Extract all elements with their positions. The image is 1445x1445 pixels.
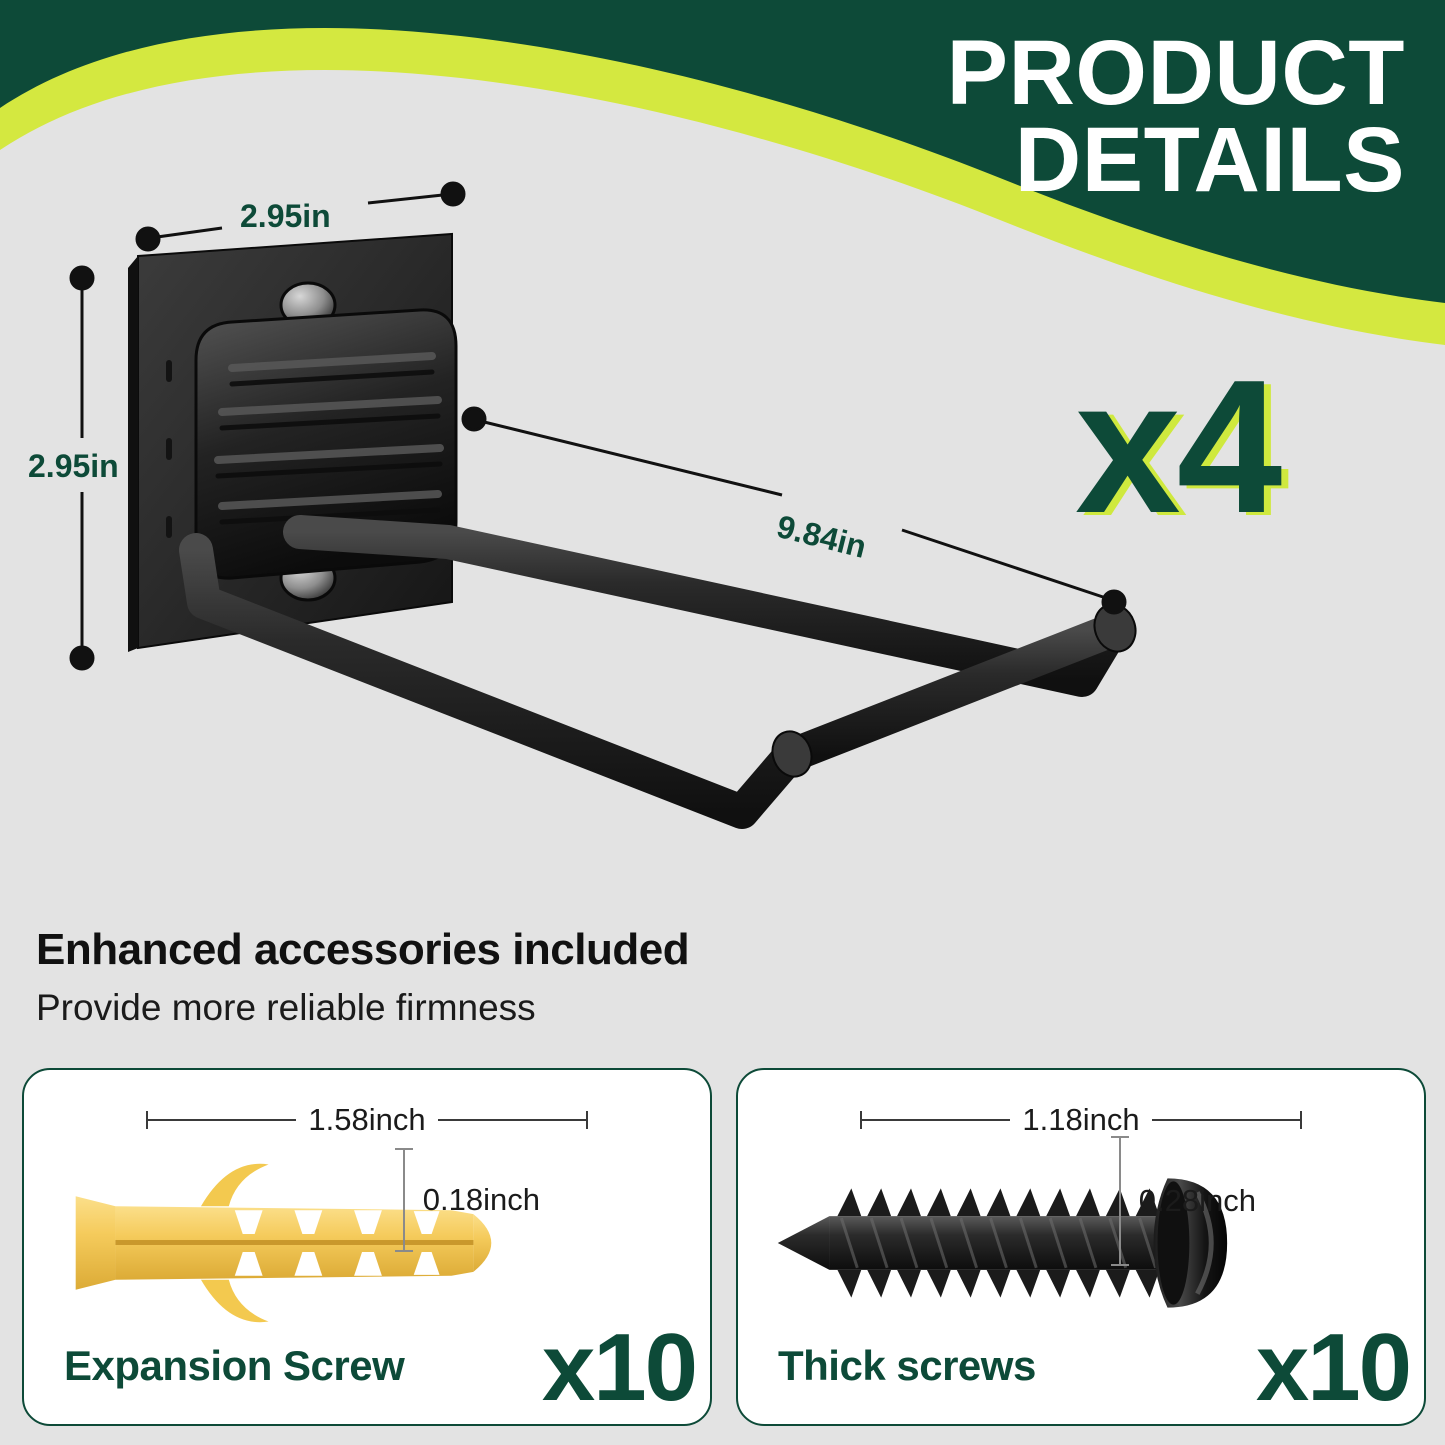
thick-screw-illustration — [738, 1148, 1424, 1338]
dimension-label-height: 2.95in — [28, 448, 119, 485]
dim-diag-dot-start — [463, 408, 485, 430]
screw-threads-top — [837, 1188, 1159, 1216]
dimension-label-width: 2.95in — [240, 198, 331, 235]
product-details-infographic: PRODUCT DETAILS — [0, 0, 1445, 1445]
quantity-badge-x4: x4 — [1075, 352, 1278, 542]
thick-screw-length-dimension: 1.18inch — [738, 1102, 1424, 1138]
accessory-card-thick-screws: 1.18inch — [736, 1068, 1426, 1426]
expansion-screw-quantity: x10 — [542, 1320, 696, 1416]
dim-diag-line-upper — [476, 420, 782, 495]
dim-top-line-left — [150, 228, 222, 238]
accessory-card-expansion-screw: 1.58inch — [22, 1068, 712, 1426]
screw-tip — [778, 1216, 830, 1270]
thick-screw-thickness-label: 0.28inch — [1139, 1183, 1256, 1219]
accessory-cards: 1.58inch — [22, 1068, 1426, 1426]
accessories-intro: Enhanced accessories included Provide mo… — [36, 925, 1036, 1029]
accessories-heading: Enhanced accessories included — [36, 925, 1036, 975]
expansion-screw-illustration — [24, 1148, 710, 1338]
screw-threads-bottom — [837, 1270, 1159, 1298]
expansion-screw-length-label: 1.58inch — [296, 1102, 437, 1138]
expansion-screw-thickness-dimension: 0.18inch — [403, 1148, 540, 1252]
expansion-screw-length-dimension: 1.58inch — [24, 1102, 710, 1138]
thick-screw-quantity: x10 — [1256, 1320, 1410, 1416]
dim-diag-dot-end — [1103, 591, 1125, 613]
expansion-screw-thickness-label: 0.18inch — [423, 1182, 540, 1218]
dim-left-dot-bottom — [71, 647, 93, 669]
thick-screw-name: Thick screws — [778, 1342, 1036, 1390]
anchor-wing-bottom — [201, 1280, 269, 1322]
dim-top-line-right — [368, 194, 452, 203]
thick-screw-length-label: 1.18inch — [1010, 1102, 1151, 1138]
anchor-collar — [76, 1196, 116, 1289]
thick-screw-thickness-dimension: 0.28inch — [1119, 1136, 1256, 1266]
dim-top-dot-left — [137, 228, 159, 250]
anchor-wing-top — [201, 1164, 269, 1206]
plate-left-edge — [128, 256, 138, 652]
expansion-screw-name: Expansion Screw — [64, 1342, 404, 1390]
accessories-subheading: Provide more reliable firmness — [36, 987, 1036, 1029]
dim-top-dot-right — [442, 183, 464, 205]
dim-left-dot-top — [71, 267, 93, 289]
